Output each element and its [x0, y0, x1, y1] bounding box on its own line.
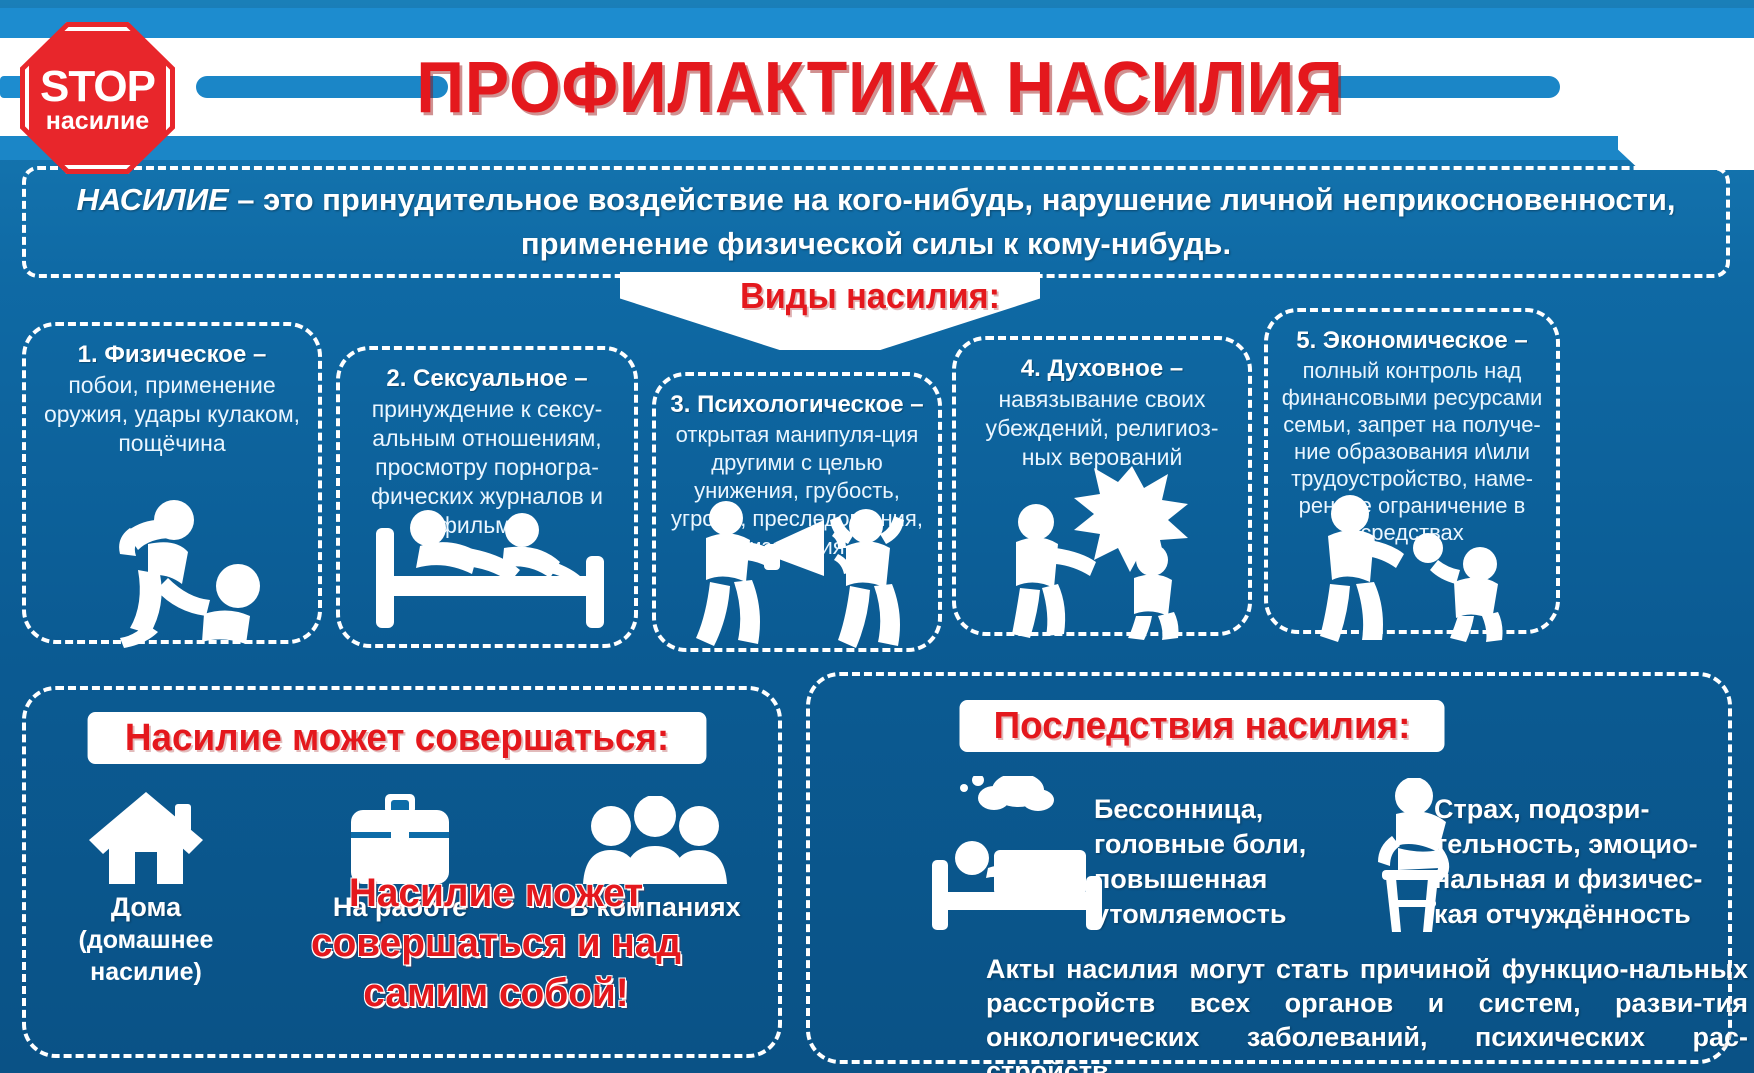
page-title: ПРОФИЛАКТИКА НАСИЛИЯ: [452, 46, 1308, 130]
kinds-heading: Виды насилия:: [671, 272, 1070, 320]
home-icon: [87, 790, 205, 886]
card-title: 3. Психологическое –: [666, 390, 928, 420]
poster-root: STOP насилие ПРОФИЛАКТИКА НАСИЛИЯ НАСИЛИ…: [0, 0, 1754, 1073]
violence-consequences-heading: Последствия насилия:: [960, 700, 1445, 752]
consequence-text-fear: Страх, подозри-тельность, эмоцио-нальная…: [1434, 792, 1734, 932]
bed-assault-icon: [372, 494, 612, 634]
consequences-paragraph: Акты насилия могут стать причиной функци…: [986, 952, 1748, 1073]
insomnia-bed-icon: [930, 776, 1110, 936]
stop-sign-icon: STOP насилие: [20, 22, 175, 174]
consequence-text-insomnia: Бессонница, головные боли, повышенная ут…: [1094, 792, 1364, 932]
header-stripe-bottom: [0, 136, 1754, 160]
header-stripe-top: [0, 8, 1754, 38]
location-item-home: Дома (домашнее насилие): [46, 790, 246, 988]
card-title: 4. Духовное –: [966, 354, 1238, 384]
sitting-sad-person-icon: [1352, 778, 1472, 938]
pointing-figure-icon: [1012, 460, 1212, 640]
location-label: Дома: [46, 891, 246, 924]
card-title: 2. Сексуальное –: [350, 364, 624, 394]
violence-locations-heading: Насилие может совершаться:: [88, 712, 707, 764]
card-title: 5. Экономическое –: [1278, 326, 1546, 356]
violence-self-slogan: Насилие может совершаться и над самим со…: [244, 868, 748, 1018]
header-dash-middle-right: [1330, 76, 1560, 98]
card-description: навязывание своих убеждений, религиоз-ны…: [966, 385, 1238, 472]
definition-box: НАСИЛИЕ – это принудительное воздействие…: [22, 166, 1730, 278]
stop-sign-subtitle: насилие: [46, 108, 149, 134]
definition-body: – это принудительное воздействие на кого…: [229, 182, 1676, 261]
definition-term: НАСИЛИЕ: [76, 182, 228, 217]
definition-text: НАСИЛИЕ – это принудительное воздействие…: [40, 178, 1712, 266]
money-control-icon: [1312, 492, 1512, 642]
card-description: побои, применение оружия, удары кулаком,…: [36, 371, 308, 458]
header-dash-middle-left: [196, 76, 448, 98]
card-title: 1. Физическое –: [36, 340, 308, 370]
beating-figures-icon: [86, 498, 286, 648]
header-corner-notch: [1618, 136, 1754, 170]
stop-sign-word: STOP: [40, 66, 155, 108]
location-sublabel: (домашнее насилие): [46, 924, 246, 988]
megaphone-shouting-icon: [690, 498, 910, 648]
